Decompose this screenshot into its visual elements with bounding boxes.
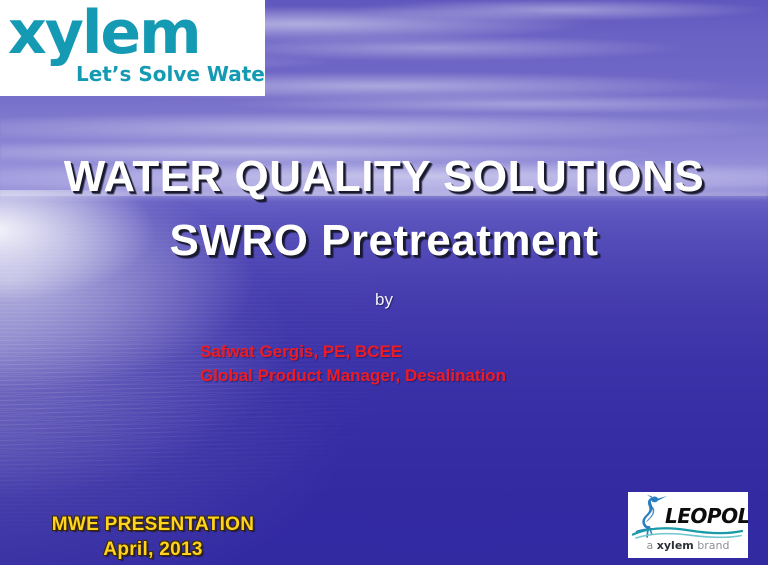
leopold-brand-prefix: a <box>647 539 657 552</box>
xylem-wordmark: xylem <box>8 2 200 64</box>
xylem-logo: xylem Let’s Solve Water <box>0 0 265 96</box>
slide-title-line-2: SWRO Pretreatment <box>0 216 768 266</box>
leopold-brand-suffix: brand <box>694 539 730 552</box>
slide-title-line-1: WATER QUALITY SOLUTIONS <box>0 152 768 202</box>
author-role: Global Product Manager, Desalination <box>200 364 506 388</box>
leopold-brand-tagline: a xylem brand <box>628 539 748 552</box>
presentation-slide: xylem Let’s Solve Water WATER QUALITY SO… <box>0 0 768 565</box>
event-date: April, 2013 <box>28 537 278 562</box>
leopold-wordmark: LEOPOLD <box>665 506 748 526</box>
leopold-logo: LEOPOLD a xylem brand <box>628 492 748 558</box>
event-block: MWE PRESENTATION April, 2013 <box>28 512 278 562</box>
leopold-brand-name: xylem <box>657 539 694 552</box>
event-name: MWE PRESENTATION <box>28 512 278 537</box>
byline-label: by <box>0 290 768 310</box>
author-name: Safwat Gergis, PE, BCEE <box>200 340 506 364</box>
author-block: Safwat Gergis, PE, BCEE Global Product M… <box>200 340 506 388</box>
xylem-tagline: Let’s Solve Water <box>76 62 265 86</box>
leopold-wave-icon <box>632 526 744 540</box>
